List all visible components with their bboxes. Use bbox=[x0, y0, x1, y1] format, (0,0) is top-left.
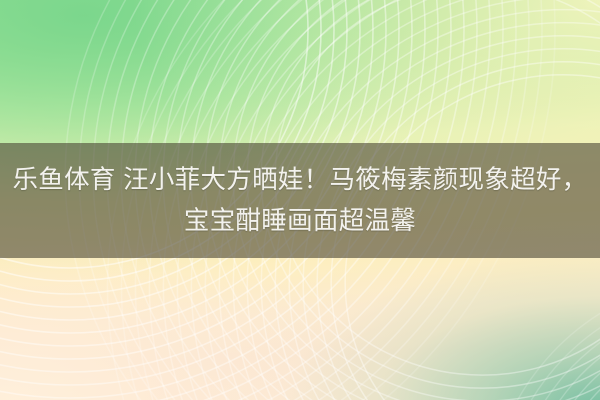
banner-image: 乐鱼体育 汪小菲大方晒娃！马筱梅素颜现象超好，宝宝酣睡画面超温馨 bbox=[0, 0, 600, 400]
headline-text: 乐鱼体育 汪小菲大方晒娃！马筱梅素颜现象超好，宝宝酣睡画面超温馨 bbox=[12, 143, 588, 258]
